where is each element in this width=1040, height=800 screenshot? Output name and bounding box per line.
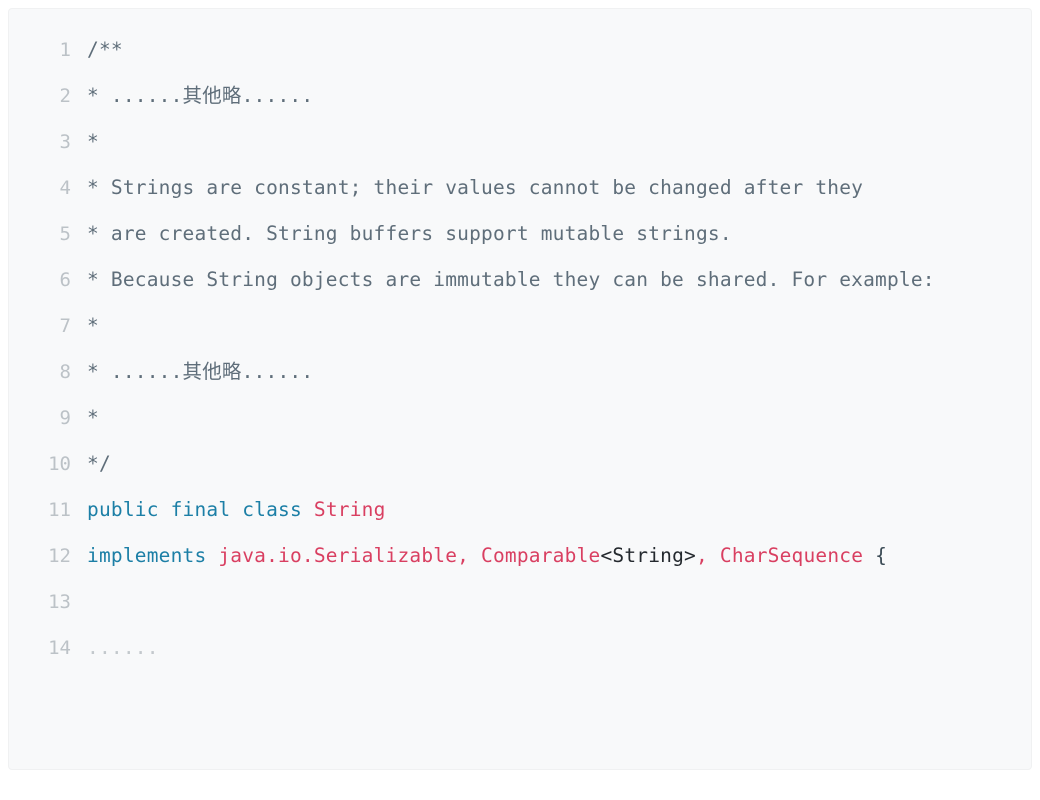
code-token-cmt: * ......其他略......: [87, 84, 313, 107]
line-number: 1: [9, 27, 87, 73]
line-number: 4: [9, 165, 87, 211]
code-token-cmt: /**: [87, 38, 123, 61]
line-number: 8: [9, 349, 87, 395]
code-token-cmt: * Because String objects are immutable t…: [87, 268, 935, 291]
code-token-pun: <String>: [600, 544, 696, 567]
code-line: 4* Strings are constant; their values ca…: [9, 165, 1031, 211]
line-number: 11: [9, 487, 87, 533]
code-token-cmt: * Strings are constant; their values can…: [87, 176, 863, 199]
code-token-typ: java.io.Serializable: [218, 544, 457, 567]
line-number: 5: [9, 211, 87, 257]
code-token-cmt: * are created. String buffers support mu…: [87, 222, 732, 245]
code-token-cmt: *: [87, 130, 99, 153]
code-line: 5* are created. String buffers support m…: [9, 211, 1031, 257]
code-line: 2* ......其他略......: [9, 73, 1031, 119]
code-line: 14......: [9, 625, 1031, 671]
code-block: 1/**2* ......其他略......3*4* Strings are c…: [8, 8, 1032, 770]
code-token-cmt: */: [87, 452, 111, 475]
code-line-content: public final class String: [87, 487, 1031, 533]
line-number: 2: [9, 73, 87, 119]
code-lines-table: 1/**2* ......其他略......3*4* Strings are c…: [9, 27, 1031, 671]
code-line: 12implements java.io.Serializable, Compa…: [9, 533, 1031, 579]
code-token-plain: {: [875, 544, 887, 567]
code-token-typ: CharSequence: [720, 544, 875, 567]
code-line: 8* ......其他略......: [9, 349, 1031, 395]
line-number: 13: [9, 579, 87, 625]
line-number: 9: [9, 395, 87, 441]
line-number: 10: [9, 441, 87, 487]
code-line-content: /**: [87, 27, 1031, 73]
line-number: 3: [9, 119, 87, 165]
code-line: 13: [9, 579, 1031, 625]
line-number: 6: [9, 257, 87, 303]
code-token-typ: String: [314, 498, 386, 521]
code-line-content: *: [87, 119, 1031, 165]
code-line-content: * ......其他略......: [87, 73, 1031, 119]
code-line-content: implements java.io.Serializable, Compara…: [87, 533, 1031, 579]
code-lines-body: 1/**2* ......其他略......3*4* Strings are c…: [9, 27, 1031, 671]
code-line-content: * ......其他略......: [87, 349, 1031, 395]
code-line: 6* Because String objects are immutable …: [9, 257, 1031, 303]
code-line: 3*: [9, 119, 1031, 165]
code-line-content: [87, 579, 1031, 625]
code-token-cmt: *: [87, 314, 99, 337]
line-number: 7: [9, 303, 87, 349]
code-line-content: */: [87, 441, 1031, 487]
code-token-cmt: * ......其他略......: [87, 360, 313, 383]
code-line-content: *: [87, 395, 1031, 441]
line-number: 12: [9, 533, 87, 579]
code-line-content: ......: [87, 625, 1031, 671]
code-token-kw: public final class: [87, 498, 314, 521]
code-token-typ: Comparable: [481, 544, 600, 567]
code-line: 9*: [9, 395, 1031, 441]
code-line-content: *: [87, 303, 1031, 349]
code-line: 11public final class String: [9, 487, 1031, 533]
line-number: 14: [9, 625, 87, 671]
code-line: 7*: [9, 303, 1031, 349]
code-token-dim: ......: [87, 636, 159, 659]
code-line-content: * Because String objects are immutable t…: [87, 257, 1031, 303]
code-token-cmt: *: [87, 406, 99, 429]
code-token-typ: ,: [696, 544, 720, 567]
code-line: 1/**: [9, 27, 1031, 73]
code-line-content: * are created. String buffers support mu…: [87, 211, 1031, 257]
code-line-content: * Strings are constant; their values can…: [87, 165, 1031, 211]
code-token-kw: implements: [87, 544, 218, 567]
code-token-typ: ,: [457, 544, 481, 567]
code-line: 10*/: [9, 441, 1031, 487]
